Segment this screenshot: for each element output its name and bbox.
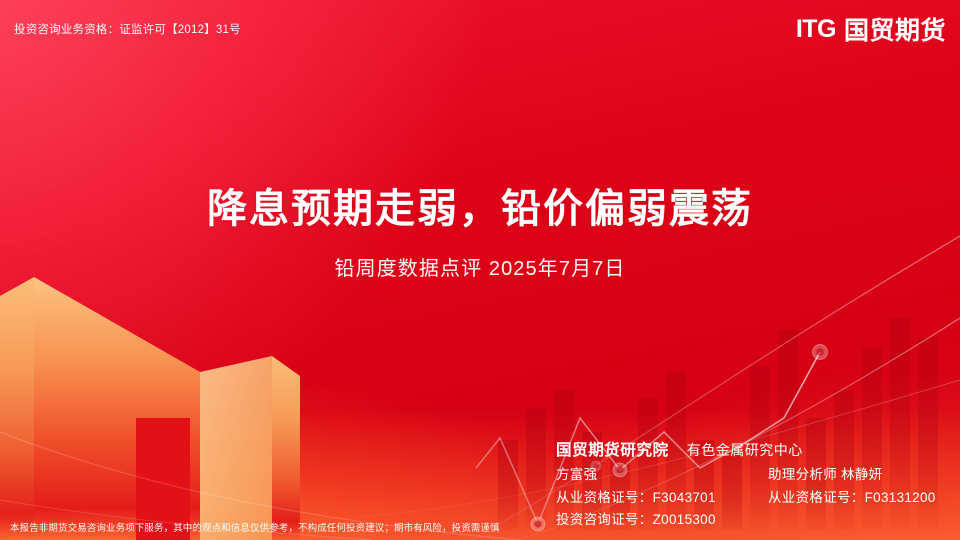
logo-chinese-text: 国贸期货 <box>844 11 946 47</box>
author-secondary: 助理分析师 林静妍 从业资格证号：F03131200 <box>768 465 936 530</box>
author-primary-practice-cert: 从业资格证号：F3043701 <box>556 488 768 508</box>
logo-latin-text: ITG <box>796 15 836 44</box>
footer-disclaimer: 本报告非期货交易咨询业务项下服务，其中的观点和信息仅供参考，不构成任何投资建议；… <box>10 520 500 534</box>
building-right-roof <box>200 356 272 540</box>
building-silhouette-group <box>0 277 300 540</box>
page-title: 降息预期走弱，铅价偏弱震荡 <box>0 186 960 232</box>
report-cover-slide: 投资咨询业务资格：证监许可【2012】31号 ITG 国贸期货 降息预期走弱，铅… <box>0 0 960 540</box>
research-institute-name: 国贸期货研究院 <box>556 438 669 460</box>
author-primary-name: 方富强 <box>556 465 768 485</box>
page-subtitle: 铅周度数据点评 2025年7月7日 <box>0 252 960 281</box>
author-primary: 方富强 从业资格证号：F3043701 投资咨询证号：Z0015300 <box>556 465 768 530</box>
author-secondary-name: 助理分析师 林静妍 <box>768 465 936 485</box>
author-org-row: 国贸期货研究院 有色金属研究中心 <box>556 438 936 460</box>
author-columns: 方富强 从业资格证号：F3043701 投资咨询证号：Z0015300 助理分析… <box>556 465 936 530</box>
author-secondary-practice-cert: 从业资格证号：F03131200 <box>768 488 936 508</box>
author-block: 国贸期货研究院 有色金属研究中心 方富强 从业资格证号：F3043701 投资咨… <box>556 438 936 530</box>
author-primary-consult-cert: 投资咨询证号：Z0015300 <box>556 510 768 530</box>
building-right-side <box>272 356 300 540</box>
itg-brand-logo: ITG 国贸期货 <box>796 11 946 47</box>
header-bar: 投资咨询业务资格：证监许可【2012】31号 ITG 国贸期货 <box>0 0 960 58</box>
hero-section: 降息预期走弱，铅价偏弱震荡 铅周度数据点评 2025年7月7日 <box>0 186 960 281</box>
license-text: 投资咨询业务资格：证监许可【2012】31号 <box>14 21 241 37</box>
research-center-name: 有色金属研究中心 <box>687 440 803 460</box>
